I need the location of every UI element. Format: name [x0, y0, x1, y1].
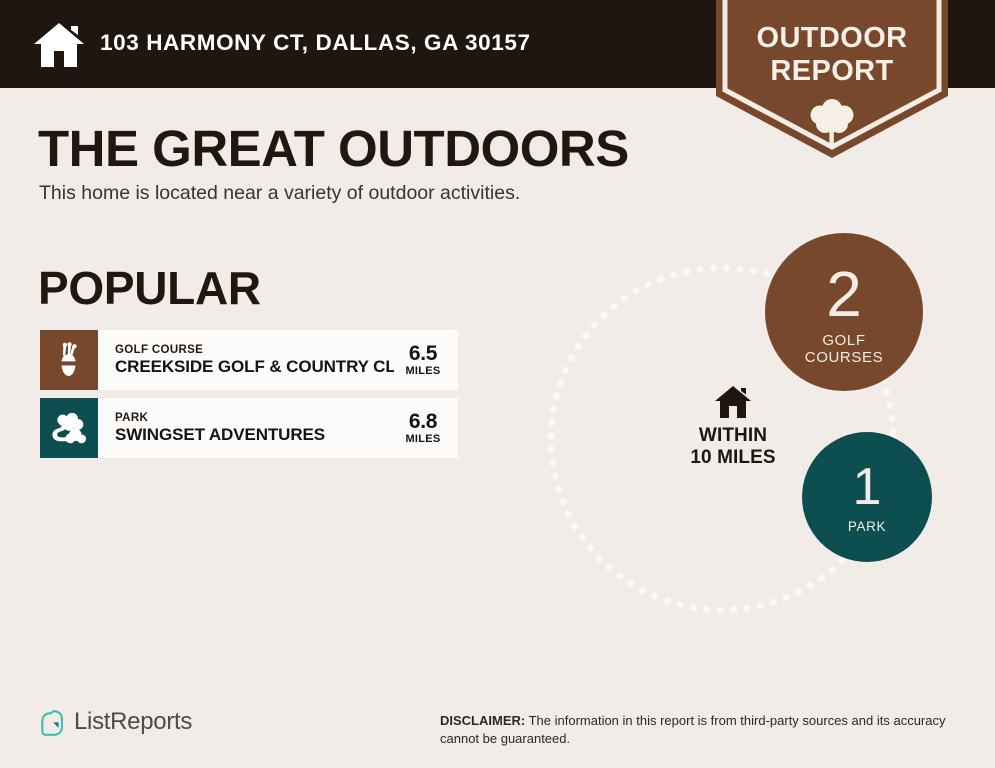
- poi-text: PARK SWINGSET ADVENTURES: [98, 398, 394, 458]
- listreports-logo[interactable]: ListReports: [40, 708, 192, 736]
- section-heading-popular: POPULAR: [38, 261, 261, 315]
- count-value: 1: [853, 463, 882, 512]
- poi-name: CREEKSIDE GOLF & COUNTRY CLUB: [115, 357, 394, 377]
- disclaimer-label: DISCLAIMER:: [440, 713, 525, 728]
- page-subtitle: This home is located near a variety of o…: [39, 182, 520, 205]
- proximity-diagram: WITHIN 10 MILES 2 GOLF COURSES 1 PARK: [520, 215, 980, 635]
- center-marker-line1: WITHIN: [673, 425, 793, 447]
- poi-text: GOLF COURSE CREEKSIDE GOLF & COUNTRY CLU…: [98, 330, 394, 390]
- center-marker: WITHIN 10 MILES: [673, 385, 793, 469]
- count-label-line1: PARK: [848, 518, 886, 535]
- home-icon: [714, 385, 752, 419]
- poi-distance-value: 6.8: [409, 411, 437, 433]
- badge-title: OUTDOOR REPORT: [716, 22, 948, 88]
- poi-distance: 6.8 MILES: [394, 398, 458, 458]
- poi-icon-tile: [40, 398, 98, 458]
- poi-distance-unit: MILES: [405, 433, 440, 446]
- poi-distance-value: 6.5: [409, 343, 437, 365]
- tree-icon: [805, 97, 859, 149]
- poi-category: PARK: [115, 412, 394, 425]
- poi-icon-tile: [40, 330, 98, 390]
- center-marker-line2: 10 MILES: [673, 447, 793, 469]
- poi-category: GOLF COURSE: [115, 344, 394, 357]
- count-value: 2: [826, 264, 862, 325]
- page-title: THE GREAT OUTDOORS: [38, 119, 629, 178]
- count-label: GOLF COURSES: [805, 332, 883, 366]
- count-label-line2: COURSES: [805, 349, 883, 366]
- trees-icon: [52, 413, 86, 444]
- home-icon: [33, 22, 85, 68]
- poi-name: SWINGSET ADVENTURES: [115, 425, 394, 445]
- list-item[interactable]: PARK SWINGSET ADVENTURES 6.8 MILES: [40, 398, 458, 458]
- list-item[interactable]: GOLF COURSE CREEKSIDE GOLF & COUNTRY CLU…: [40, 330, 458, 390]
- count-bubble-golf-courses[interactable]: 2 GOLF COURSES: [765, 233, 923, 391]
- badge-title-line2: REPORT: [716, 55, 948, 88]
- popular-list: GOLF COURSE CREEKSIDE GOLF & COUNTRY CLU…: [40, 330, 458, 466]
- poi-distance: 6.5 MILES: [394, 330, 458, 390]
- outdoor-report-page: 103 HARMONY CT, DALLAS, GA 30157 OUTDOOR…: [0, 0, 995, 768]
- golf-bag-icon: [53, 342, 85, 378]
- outdoor-report-badge: OUTDOOR REPORT: [716, 0, 948, 158]
- disclaimer: DISCLAIMER: The information in this repo…: [440, 712, 960, 748]
- badge-title-line1: OUTDOOR: [716, 22, 948, 55]
- listreports-house-pin-icon: [40, 709, 67, 736]
- count-label-line1: GOLF: [805, 332, 883, 349]
- count-label: PARK: [848, 518, 886, 535]
- property-address: 103 HARMONY CT, DALLAS, GA 30157: [100, 30, 531, 56]
- listreports-logo-text: ListReports: [74, 708, 192, 736]
- count-bubble-parks[interactable]: 1 PARK: [802, 432, 932, 562]
- poi-distance-unit: MILES: [405, 365, 440, 378]
